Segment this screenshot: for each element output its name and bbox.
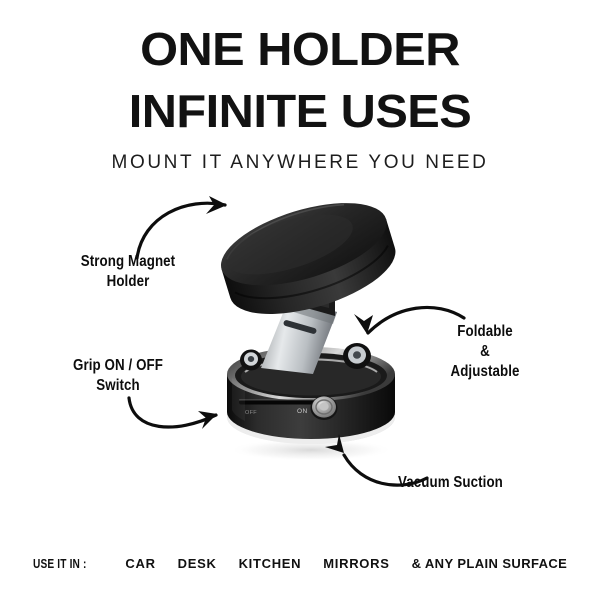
footer-item-desk: DESK: [178, 556, 217, 571]
callout-vacuum-line-1: Vacuum Suction: [398, 473, 561, 493]
callout-foldable-line-3: Adjustable: [421, 362, 550, 382]
footer-usage-bar: USE IT IN : CAR DESK KITCHEN MIRRORS & A…: [0, 556, 600, 571]
footer-item-any-plain-surface: & ANY PLAIN SURFACE: [412, 556, 568, 571]
callout-magnet-line-1: Strong Magnet: [51, 252, 206, 272]
footer-prefix: USE IT IN :: [33, 556, 87, 571]
callout-grip-line-1: Grip ON / OFF: [41, 356, 196, 376]
callout-foldable-line-1: Foldable: [421, 322, 550, 342]
svg-text:OFF: OFF: [245, 410, 257, 416]
footer-item-mirrors: MIRRORS: [323, 556, 389, 571]
page-subtitle: MOUNT IT ANYWHERE YOU NEED: [0, 152, 600, 174]
callout-foldable-line-2: &: [421, 342, 550, 362]
callout-magnet-line-2: Holder: [51, 272, 206, 292]
page-title-line-2: INFINITE USES: [0, 88, 600, 134]
svg-text:ON: ON: [297, 408, 308, 415]
page-title-line-1: ONE HOLDER: [0, 26, 600, 72]
callout-vacuum-suction: Vacuum Suction: [398, 473, 561, 493]
callout-strong-magnet-holder: Strong Magnet Holder: [51, 252, 206, 292]
product-infographic: ONE HOLDER INFINITE USES MOUNT IT ANYWHE…: [0, 0, 600, 600]
arrow-to-grip-switch: [129, 398, 216, 427]
callout-grip-on-off-switch: Grip ON / OFF Switch: [41, 356, 196, 396]
callout-grip-line-2: Switch: [41, 376, 196, 396]
footer-item-kitchen: KITCHEN: [239, 556, 302, 571]
product-image: OFF ON: [205, 178, 415, 460]
callout-foldable-adjustable: Foldable & Adjustable: [421, 322, 550, 381]
footer-item-car: CAR: [125, 556, 155, 571]
magnet-head: [212, 187, 405, 331]
